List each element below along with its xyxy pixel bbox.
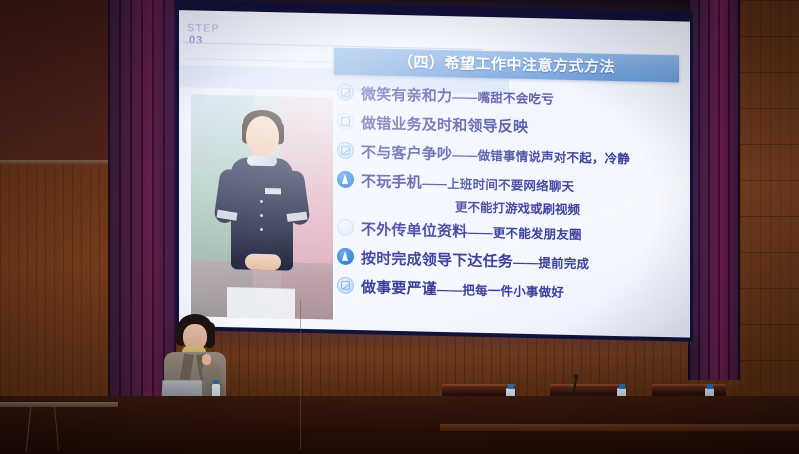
projected-slide: STEP 03: [179, 10, 690, 338]
bullet-row: 不玩手机——上班时间不要网络聊天 更不能打游戏或刷视频: [337, 169, 685, 223]
check-square-icon: [337, 84, 354, 101]
bullet-text: 不外传单位资料——更不能发朋友圈: [337, 217, 582, 249]
calendar-icon: [337, 113, 354, 130]
slide-divider-line: [183, 42, 483, 50]
photo-face: [246, 116, 279, 157]
slide-photo-uniformed-employee: [191, 94, 333, 319]
bullet-text: 不与客户争吵——做错事情说声对不起，冷静: [337, 140, 630, 173]
stage-curtain-right: [688, 0, 746, 380]
photo-neck-scarf: [247, 156, 277, 167]
bullet-text: 做事要严谨——把每一件小事做好: [337, 275, 564, 306]
slide-bullet-list: 微笑有亲和力——嘴甜不会吃亏 做错业务及时和领导反映 不与客户争吵——做错事情说…: [337, 82, 685, 312]
bullet-text: 微笑有亲和力——嘴甜不会吃亏: [337, 82, 554, 113]
check-square-icon: [337, 142, 354, 159]
photo-name-badge: [265, 188, 281, 194]
bullet-row: 做事要严谨——把每一件小事做好: [337, 275, 685, 310]
conference-hall-scene: STEP 03: [0, 0, 799, 454]
speaker-hand: [202, 354, 211, 365]
slide-step-label: STEP: [187, 22, 220, 35]
bullet-text: 做错业务及时和领导反映: [337, 111, 528, 140]
projection-screen-frame: STEP 03: [176, 0, 693, 342]
stage-edge: [440, 424, 799, 431]
photo-hands: [245, 254, 281, 271]
check-square-icon: [337, 277, 354, 294]
bullet-text: 按时完成领导下达任务——提前完成: [337, 246, 589, 278]
lightning-bolt-icon: [337, 248, 354, 265]
floor-rail: [0, 402, 118, 407]
slide-step-number: 03: [189, 34, 203, 46]
bullet-text: 不玩手机——上班时间不要网络聊天: [337, 169, 574, 200]
circle-outline-icon: [337, 219, 354, 236]
lightning-bolt-icon: [337, 171, 354, 188]
hanging-cable: [300, 300, 301, 450]
